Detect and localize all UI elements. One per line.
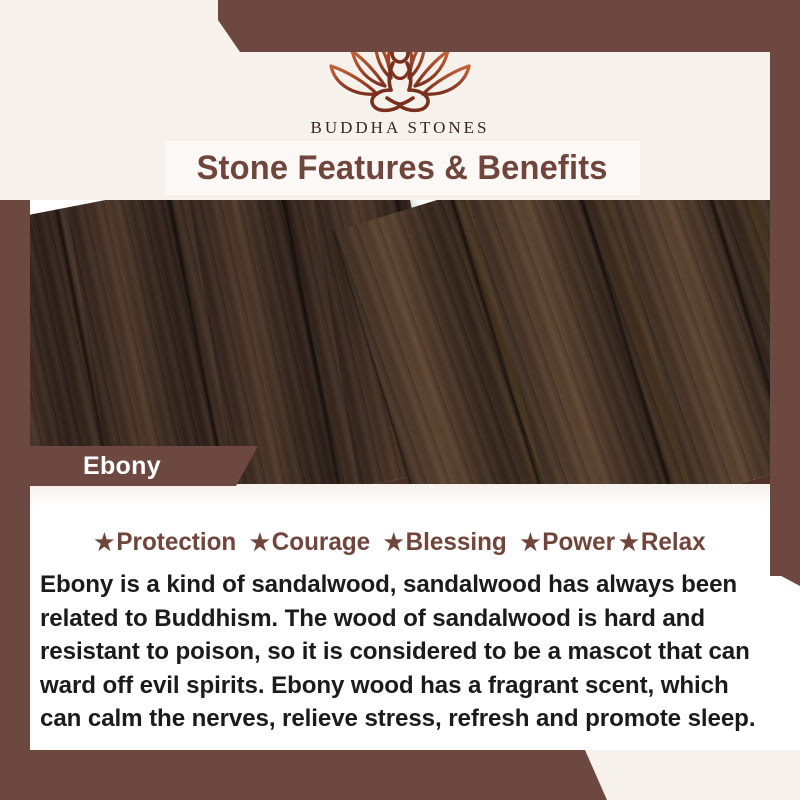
benefit-label-3: Power (542, 528, 615, 556)
brand-name: BUDDHA STONES (0, 118, 800, 138)
product-photo (0, 196, 800, 484)
content-fade (0, 484, 800, 508)
benefit-label-1: Courage (272, 528, 370, 556)
benefit-item-1: ★Courage (250, 528, 370, 557)
frame-left-bar (0, 200, 30, 800)
star-icon: ★ (384, 529, 404, 555)
description-text: Ebony is a kind of sandalwood, sandalwoo… (40, 568, 757, 736)
product-label-banner: Ebony (0, 446, 258, 486)
frame-right-bar (770, 46, 800, 576)
page-title: Stone Features & Benefits (197, 149, 608, 188)
benefit-item-2: ★Blessing (384, 528, 507, 557)
content-section: ★Protection★Courage★Blessing★Power★Relax… (0, 484, 800, 750)
product-label: Ebony (83, 452, 161, 481)
star-icon: ★ (94, 529, 114, 555)
poster-root: BUDDHA STONES Stone Features & Benefits … (0, 0, 800, 800)
benefits-row: ★Protection★Courage★Blessing★Power★Relax (12, 528, 788, 557)
benefit-label-0: Protection (116, 528, 236, 556)
frame-bottom-bar (0, 750, 800, 800)
star-icon: ★ (250, 529, 270, 555)
benefit-item-3: ★Power (520, 528, 615, 557)
benefit-item-4: ★Relax (619, 528, 706, 557)
benefit-item-0: ★Protection (94, 528, 236, 557)
benefit-label-4: Relax (641, 528, 706, 556)
benefit-label-2: Blessing (406, 528, 507, 556)
star-icon: ★ (520, 529, 540, 555)
star-icon: ★ (619, 529, 639, 555)
title-band: Stone Features & Benefits (165, 141, 640, 195)
